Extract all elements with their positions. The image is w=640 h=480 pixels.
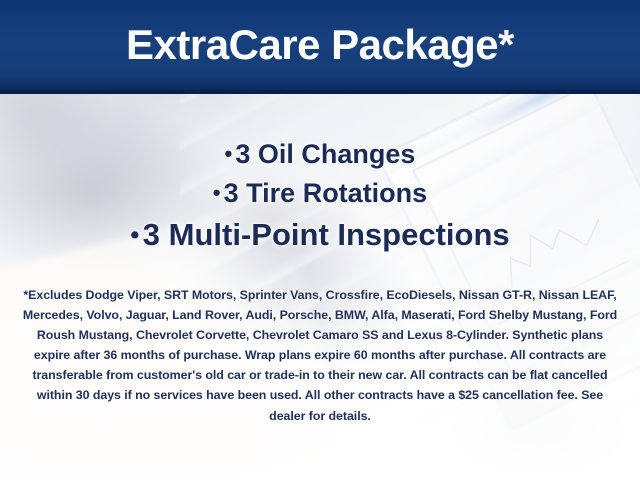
content-area: •3 Oil Changes •3 Tire Rotations •3 Mult… [0,93,640,480]
bullet-icon: • [213,180,221,205]
benefit-item-multi-point-inspections: •3 Multi-Point Inspections [0,219,640,250]
bullet-icon: • [225,141,233,166]
benefit-label: 3 Multi-Point Inspections [143,217,510,252]
bullet-icon: • [130,221,139,249]
benefit-item-tire-rotations: •3 Tire Rotations [0,180,640,207]
benefits-list: •3 Oil Changes •3 Tire Rotations •3 Mult… [0,141,640,250]
benefit-item-oil-changes: •3 Oil Changes [0,141,640,168]
disclaimer-text: *Excludes Dodge Viper, SRT Motors, Sprin… [20,285,620,426]
benefit-label: 3 Oil Changes [235,139,415,169]
benefit-label: 3 Tire Rotations [224,178,428,208]
page-title: ExtraCare Package* [0,0,640,93]
extracare-package-promo-card: ExtraCare Package* •3 Oil Changes •3 Tir… [0,0,640,480]
